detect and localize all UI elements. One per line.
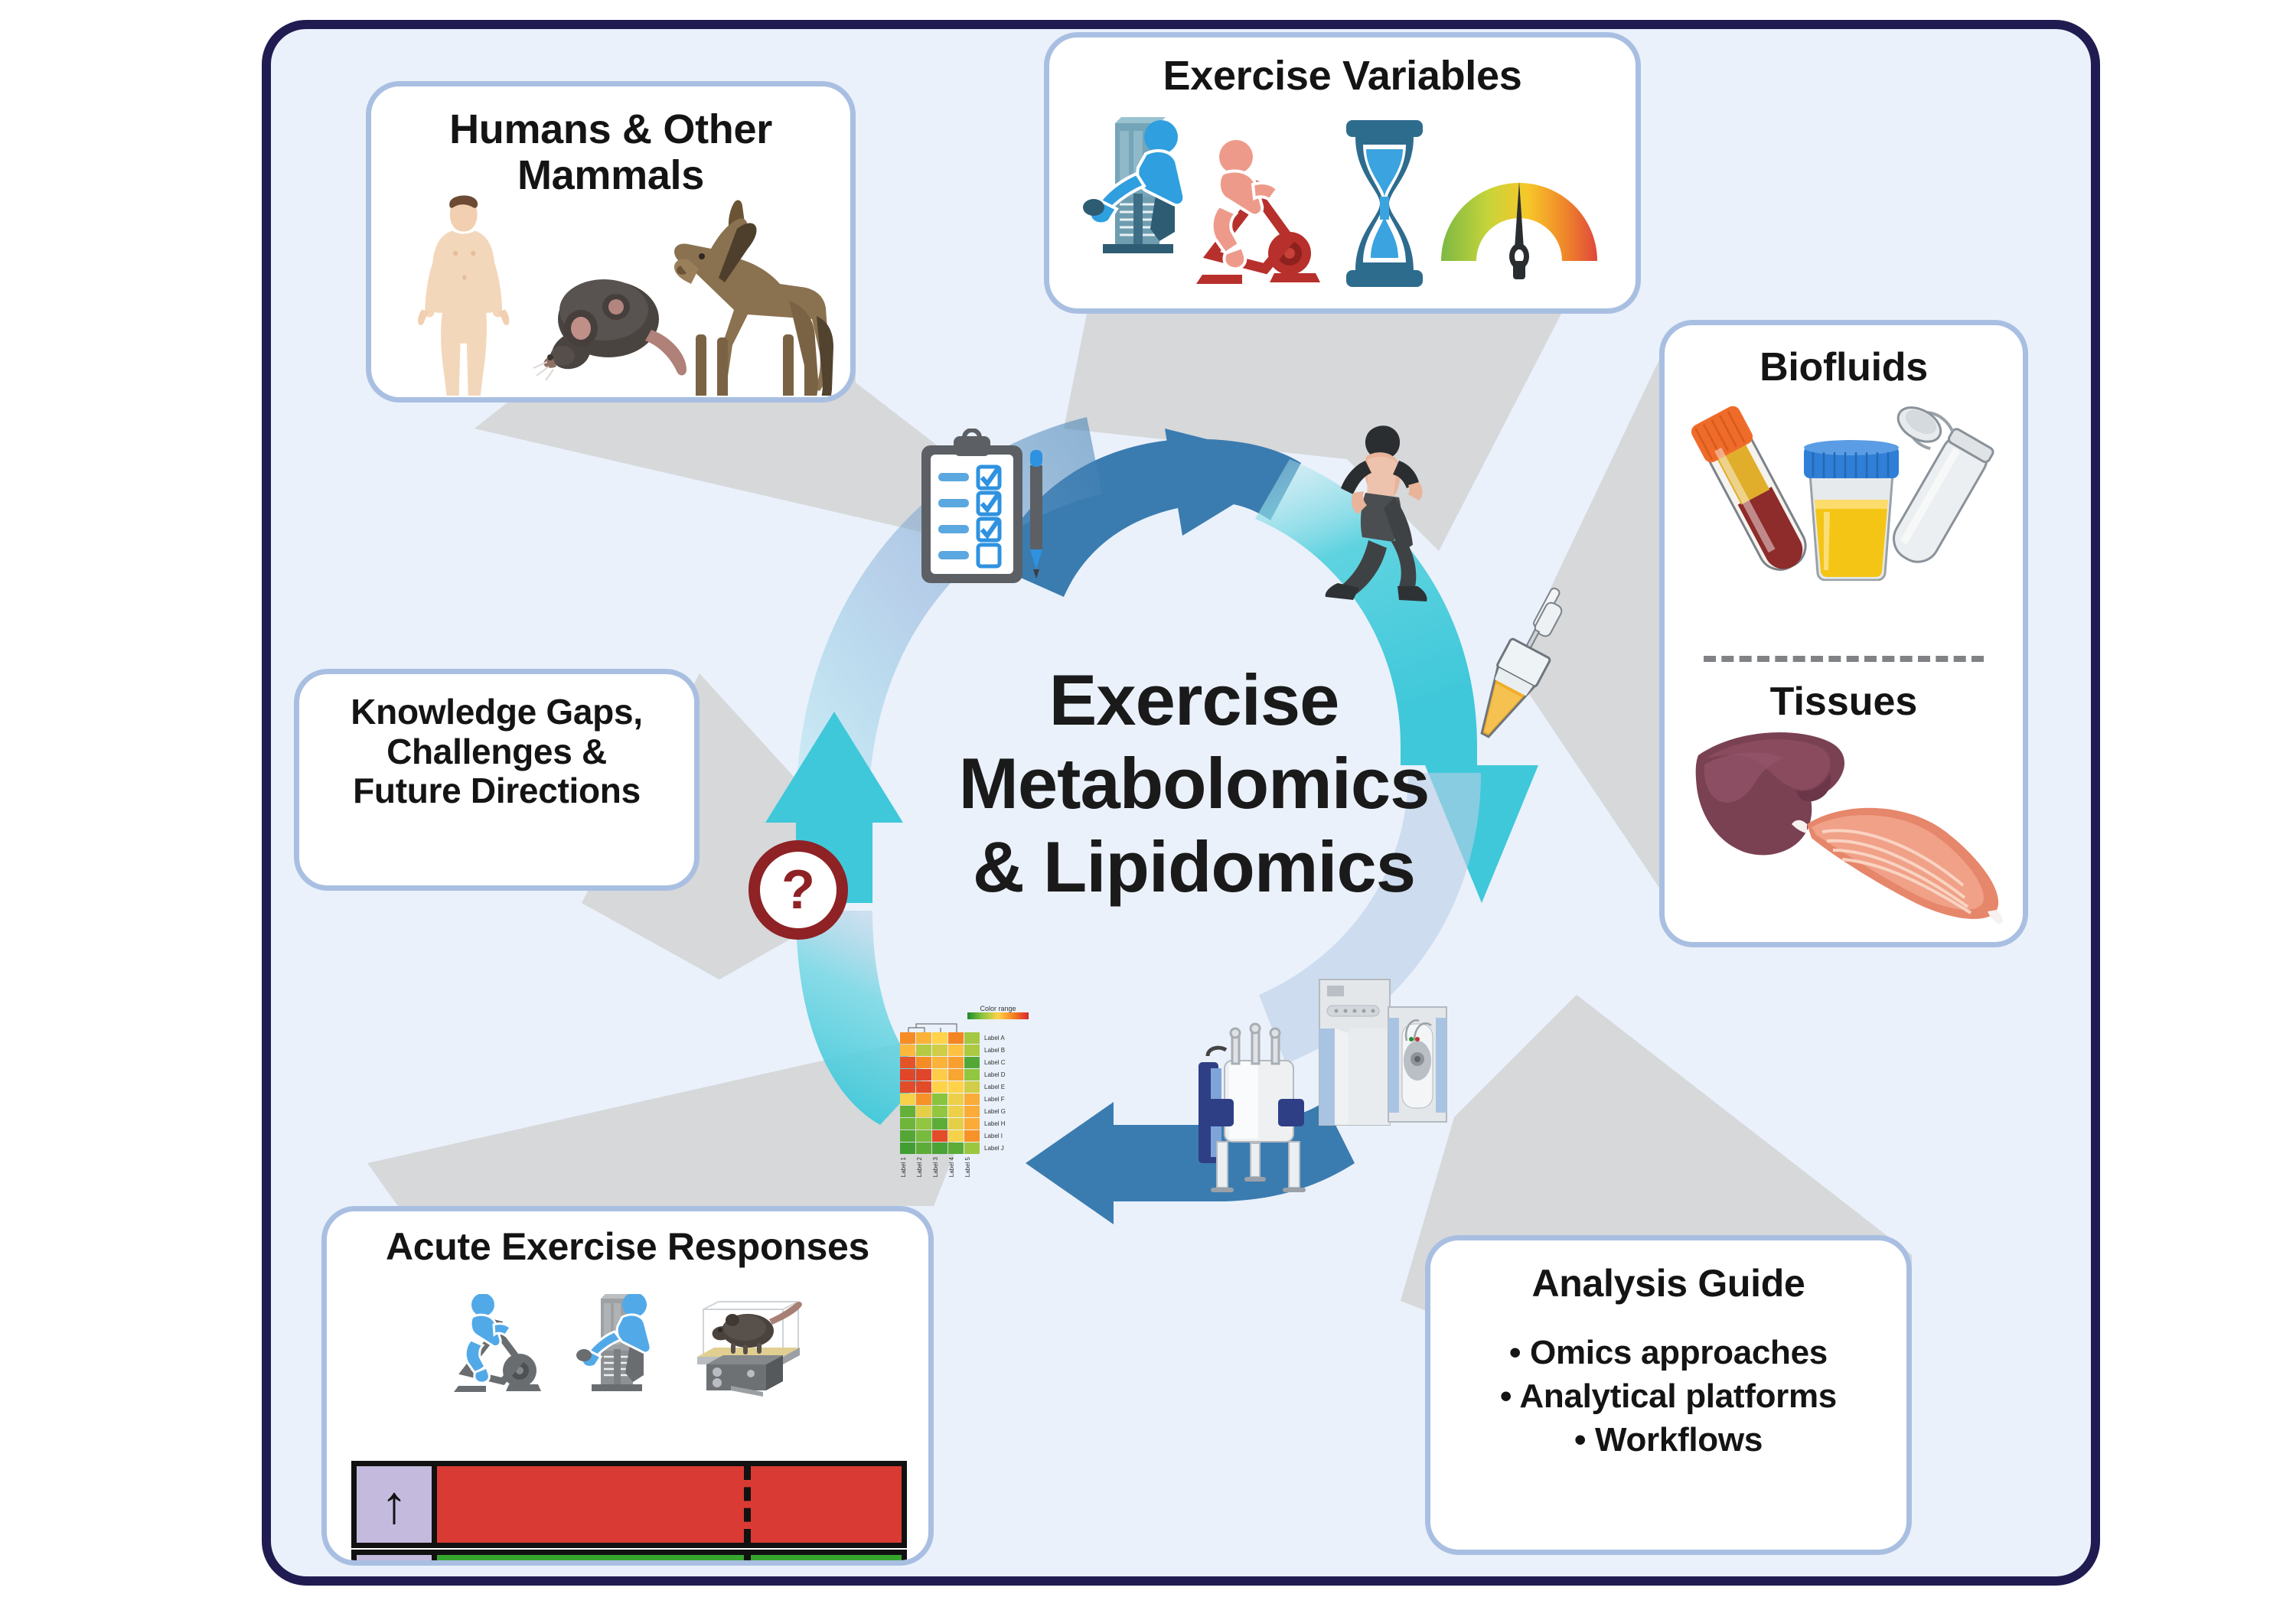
heatmap-legend: Color range bbox=[967, 1005, 1029, 1019]
box-gaps-line-2: Challenges & bbox=[299, 732, 694, 772]
hourglass-icon bbox=[1346, 120, 1423, 287]
heatmap-cell bbox=[916, 1045, 931, 1056]
box-analysis-guide-title: Analysis Guide bbox=[1430, 1262, 1906, 1305]
tissue-icons bbox=[1675, 723, 2021, 924]
center-title-line-1: Exercise bbox=[918, 658, 1469, 742]
heatmap-row-label: Label D bbox=[984, 1069, 1006, 1081]
heatmap-col-label: Label 4 bbox=[948, 1157, 964, 1177]
skeletal-muscle-icon bbox=[1792, 808, 2002, 924]
nmr-and-ms-instrument-icon bbox=[1185, 970, 1506, 1215]
heatmap-cell bbox=[964, 1081, 980, 1093]
center-title-line-2: Metabolomics bbox=[918, 742, 1469, 825]
heatmap-row-label: Label F bbox=[984, 1094, 1006, 1106]
heatmap-cell bbox=[916, 1032, 931, 1044]
heatmap-grid bbox=[900, 1032, 980, 1155]
down-arrow-icon: ↓ bbox=[357, 1555, 437, 1566]
acute-response-row-up: ↑ bbox=[351, 1461, 907, 1548]
heatmap-cell bbox=[900, 1069, 915, 1081]
clipboard-checklist-icon bbox=[917, 429, 1062, 589]
analysis-guide-bullets: • Omics approaches • Analytical platform… bbox=[1430, 1331, 1906, 1462]
heatmap-cell bbox=[948, 1106, 964, 1117]
question-mark-glyph: ? bbox=[781, 862, 815, 918]
box-mammals-title-line-1: Humans & Other bbox=[371, 106, 850, 152]
analysis-bullet-1: • Omics approaches bbox=[1430, 1331, 1906, 1374]
heatmap-cell bbox=[932, 1106, 947, 1117]
heatmap-col-label: Label 1 bbox=[900, 1157, 916, 1177]
heatmap-cell bbox=[932, 1032, 947, 1044]
question-mark-badge: ? bbox=[748, 840, 848, 940]
box-knowledge-gaps-title: Knowledge Gaps, Challenges & Future Dire… bbox=[299, 693, 694, 811]
heatmap-cell bbox=[900, 1057, 915, 1068]
exercise-variables-icons bbox=[1080, 117, 1608, 292]
heatmap-row-label: Label I bbox=[984, 1130, 1006, 1143]
blood-collection-tube-icon bbox=[1688, 405, 1815, 579]
heatmap-cell bbox=[948, 1143, 964, 1154]
heatmap-cell bbox=[948, 1130, 964, 1142]
heatmap-cell bbox=[948, 1118, 964, 1129]
heatmap-cell bbox=[932, 1045, 947, 1056]
heatmap-cell bbox=[964, 1057, 980, 1068]
heatmap-cell bbox=[900, 1045, 915, 1056]
horse-icon bbox=[674, 200, 833, 396]
box-analysis-guide[interactable]: Analysis Guide • Omics approaches • Anal… bbox=[1425, 1235, 1912, 1555]
heatmap-cell bbox=[932, 1118, 947, 1129]
heatmap-cell bbox=[948, 1045, 964, 1056]
box-acute-title: Acute Exercise Responses bbox=[327, 1225, 928, 1268]
acute-response-row-down: ↓ bbox=[351, 1550, 907, 1566]
heatmap-cell bbox=[916, 1118, 931, 1129]
heatmap-row-label: Label E bbox=[984, 1081, 1006, 1094]
heatmap-cell bbox=[932, 1094, 947, 1105]
heatmap-cell bbox=[948, 1032, 964, 1044]
gauge-icon bbox=[1441, 181, 1597, 279]
heatmap-cell bbox=[964, 1130, 980, 1142]
box-knowledge-gaps[interactable]: Knowledge Gaps, Challenges & Future Dire… bbox=[294, 669, 700, 891]
heatmap-row-label: Label J bbox=[984, 1143, 1006, 1155]
heatmap-cell bbox=[964, 1045, 980, 1056]
box-gaps-line-1: Knowledge Gaps, bbox=[299, 693, 694, 732]
heatmap-cell bbox=[916, 1130, 931, 1142]
box-acute-exercise-responses[interactable]: Acute Exercise Responses bbox=[321, 1206, 934, 1566]
box-exercise-variables-title: Exercise Variables bbox=[1049, 53, 1636, 99]
stationary-bike-icon bbox=[1196, 140, 1320, 284]
box-exercise-variables[interactable]: Exercise Variables bbox=[1044, 32, 1641, 314]
heatmap-cell bbox=[900, 1118, 915, 1129]
heatmap-row-label: Label H bbox=[984, 1118, 1006, 1130]
acute-bar-up bbox=[437, 1466, 902, 1543]
heatmap-cell bbox=[964, 1032, 980, 1044]
center-title-line-3: & Lipidomics bbox=[918, 825, 1469, 908]
pipette-sample-tube-icon bbox=[1454, 582, 1600, 758]
heatmap-cell bbox=[964, 1106, 980, 1117]
heatmap-color-scale bbox=[967, 1012, 1029, 1019]
leg-press-machine-icon bbox=[1083, 117, 1184, 253]
heatmap-cell bbox=[948, 1069, 964, 1081]
heatmap-col-label: Label 2 bbox=[916, 1157, 932, 1177]
heatmap-cell bbox=[964, 1143, 980, 1154]
heatmap-cell bbox=[916, 1081, 931, 1093]
heatmap-cell bbox=[900, 1143, 915, 1154]
heatmap-cell bbox=[916, 1069, 931, 1081]
box-humans-and-other-mammals[interactable]: Humans & Other Mammals bbox=[366, 81, 856, 403]
heatmap-row-label: Label A bbox=[984, 1032, 1006, 1045]
rodent-treadmill-icon bbox=[697, 1302, 802, 1397]
cycling-person-icon bbox=[454, 1294, 541, 1392]
analysis-bullet-2: • Analytical platforms bbox=[1430, 1374, 1906, 1418]
heatmap-cell bbox=[964, 1094, 980, 1105]
heatmap-cell bbox=[900, 1094, 915, 1105]
heatmap-row-label: Label B bbox=[984, 1045, 1006, 1057]
heatmap-cell bbox=[932, 1081, 947, 1093]
heatmap-cell bbox=[948, 1057, 964, 1068]
heatmap-cell bbox=[900, 1130, 915, 1142]
human-body-icon bbox=[418, 196, 509, 396]
heatmap-col-label: Label 3 bbox=[932, 1157, 948, 1177]
box-tissues-title: Tissues bbox=[1665, 679, 2023, 725]
heatmap-cell bbox=[932, 1057, 947, 1068]
heatmap-cell bbox=[900, 1032, 915, 1044]
heatmap-cell bbox=[916, 1143, 931, 1154]
urine-cup-icon bbox=[1804, 440, 1899, 580]
heatmap-col-label: Label 5 bbox=[964, 1157, 980, 1177]
box-gaps-line-3: Future Directions bbox=[299, 771, 694, 811]
heatmap-cell bbox=[916, 1094, 931, 1105]
box-biofluids-and-tissues[interactable]: Biofluids bbox=[1659, 320, 2028, 947]
acute-bar-down bbox=[437, 1555, 902, 1566]
heatmap-cell bbox=[932, 1130, 947, 1142]
acute-exercise-icons bbox=[449, 1294, 809, 1401]
heatmap-cell bbox=[916, 1106, 931, 1117]
heatmap-cell bbox=[900, 1106, 915, 1117]
runner-icon bbox=[1309, 413, 1446, 605]
analysis-bullet-3: • Workflows bbox=[1430, 1418, 1906, 1462]
box-biofluids-title: Biofluids bbox=[1665, 345, 2023, 390]
heatmap-cell bbox=[916, 1057, 931, 1068]
heatmap-cell bbox=[964, 1118, 980, 1129]
mammals-illustrations bbox=[390, 184, 849, 396]
up-arrow-icon: ↑ bbox=[357, 1466, 437, 1543]
heatmap-row-labels: Label ALabel BLabel CLabel DLabel ELabel… bbox=[984, 1032, 1006, 1155]
heatmap-row-label: Label G bbox=[984, 1106, 1006, 1118]
heatmap-icon: Label ALabel BLabel CLabel DLabel ELabel… bbox=[900, 1022, 1006, 1177]
page-title: Exercise Metabolomics & Lipidomics bbox=[918, 658, 1469, 908]
figure-root: Exercise Metabolomics & Lipidomics ? bbox=[0, 0, 2296, 1607]
heatmap-cell bbox=[948, 1094, 964, 1105]
heatmap-cell bbox=[932, 1143, 947, 1154]
biofluids-tissues-divider bbox=[1704, 656, 1983, 662]
mouse-icon bbox=[533, 279, 687, 380]
heatmap-row-label: Label C bbox=[984, 1057, 1006, 1069]
heatmap-legend-title: Color range bbox=[967, 1005, 1029, 1012]
biofluid-icons bbox=[1675, 405, 2021, 581]
heatmap-cell bbox=[932, 1069, 947, 1081]
heatmap-cell bbox=[900, 1081, 915, 1093]
leg-press-person-icon bbox=[576, 1294, 651, 1391]
heatmap-cell bbox=[948, 1081, 964, 1093]
heatmap-cell bbox=[964, 1069, 980, 1081]
heatmap-col-labels: Label 1Label 2Label 3Label 4Label 5 bbox=[900, 1157, 1006, 1177]
